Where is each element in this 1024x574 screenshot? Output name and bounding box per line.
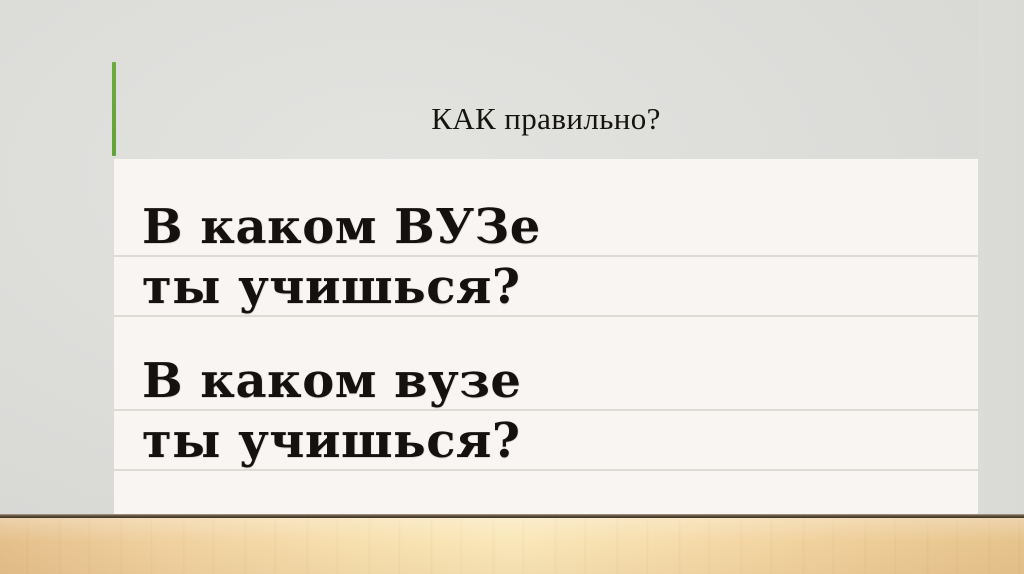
slide-title: КАК правильно? (114, 100, 978, 138)
presentation-slide: КАК правильно? В каком ВУЗе ты учишься? … (0, 0, 1024, 574)
floor-sheen (0, 518, 1024, 574)
phrase-lowercase-vuze: В каком вузе ты учишься? (142, 351, 521, 471)
wall-panel-right (978, 0, 1024, 518)
wooden-floor (0, 518, 1024, 574)
content-image: В каком ВУЗе ты учишься? В каком вузе ты… (114, 159, 978, 516)
phrase-uppercase-vuze: В каком ВУЗе ты учишься? (142, 197, 541, 317)
